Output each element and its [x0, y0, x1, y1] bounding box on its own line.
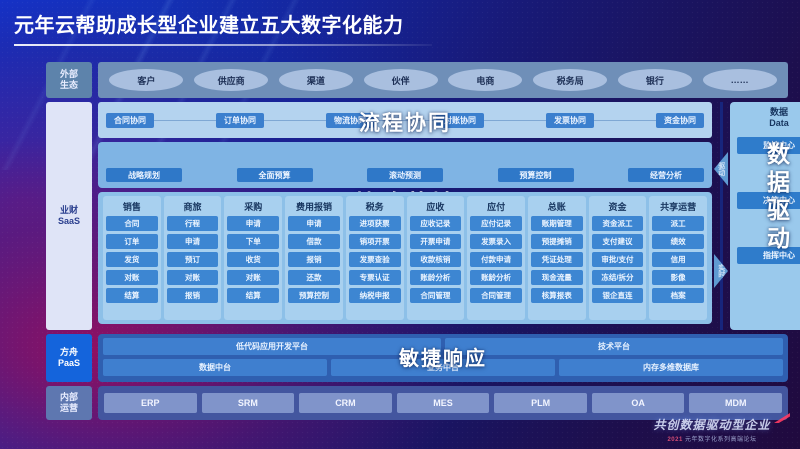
transaction-column-expense: 费用报销 申请 借款 报销 还款 预算控制	[285, 196, 343, 320]
ecosystem-pill[interactable]: 客户	[109, 69, 183, 91]
ecosystem-pill[interactable]: 税务局	[533, 69, 607, 91]
transaction-cell[interactable]: 影像	[652, 270, 704, 285]
strategy-item[interactable]: 战略规划	[106, 168, 182, 182]
transaction-column-shared-services: 共享运营 派工 绩效 信用 影像 档案	[649, 196, 707, 320]
transaction-cell[interactable]: 预算控制	[288, 288, 340, 303]
data-cell-command[interactable]: 指挥中心	[737, 247, 800, 264]
sidebar-item-internal[interactable]: 内部 运营	[46, 386, 92, 420]
process-connector	[374, 120, 436, 121]
process-connector	[594, 120, 656, 121]
internal-cell-mdm[interactable]: MDM	[689, 393, 782, 413]
process-connector	[264, 120, 326, 121]
title-underline	[14, 44, 432, 46]
paas-cell-business-midend[interactable]: 业务中台	[331, 359, 555, 376]
sidebar-item-paas[interactable]: 方舟 PaaS	[46, 334, 92, 382]
internal-cell-plm[interactable]: PLM	[494, 393, 587, 413]
ecosystem-pill[interactable]: 电商	[448, 69, 522, 91]
ecosystem-panel: 客户 供应商 渠道 伙伴 电商 税务局 银行 ……	[98, 62, 788, 98]
process-item[interactable]: 订单协同	[216, 113, 264, 128]
internal-ops-panel: ERP SRM CRM MES PLM OA MDM	[98, 386, 788, 420]
watermark-sub-text: 元年数字化系列高端论坛	[685, 437, 757, 443]
process-collaboration-panel: 合同协同 订单协同 物流协同 对账协同 发票协同 资金协同 流程协同	[98, 102, 712, 138]
transaction-cell[interactable]: 预订	[167, 252, 219, 267]
transaction-cell[interactable]: 进项获票	[349, 216, 401, 231]
transaction-cell[interactable]: 派工	[652, 216, 704, 231]
internal-cell-erp[interactable]: ERP	[104, 393, 197, 413]
column-header: 资金	[608, 199, 626, 213]
column-header: 采购	[244, 199, 262, 213]
internal-ops-row: 内部 运营 ERP SRM CRM MES PLM OA MDM	[46, 386, 788, 420]
transaction-cell[interactable]: 开票申请	[410, 234, 462, 249]
paas-cell-inmemory-db[interactable]: 内存多维数据库	[559, 359, 783, 376]
transaction-column-sales: 销售 合同 订单 发货 对账 结算	[103, 196, 161, 320]
column-header: 总账	[548, 199, 566, 213]
transaction-cell[interactable]: 申请	[227, 216, 279, 231]
transaction-cell[interactable]: 合同管理	[410, 288, 462, 303]
paas-cell-tech[interactable]: 技术平台	[445, 338, 783, 355]
transaction-cell[interactable]: 档案	[652, 288, 704, 303]
column-header: 商旅	[184, 199, 202, 213]
sidebar-item-saas[interactable]: 业财 SaaS	[46, 102, 92, 330]
process-connector	[154, 120, 216, 121]
transaction-cell[interactable]: 对账	[227, 270, 279, 285]
process-connector	[484, 120, 546, 121]
process-item[interactable]: 发票协同	[546, 113, 594, 128]
watermark-year: 2021	[667, 437, 682, 443]
ecosystem-row: 外部 生态 客户 供应商 渠道 伙伴 电商 税务局 银行 ……	[46, 62, 788, 98]
transaction-cell[interactable]: 付款申请	[470, 252, 522, 267]
arrow-spine	[720, 102, 723, 330]
sidebar-item-ecosystem[interactable]: 外部 生态	[46, 62, 92, 98]
transaction-cell[interactable]: 银企直连	[592, 288, 644, 303]
internal-cell-oa[interactable]: OA	[592, 393, 685, 413]
column-header: 共享运营	[660, 199, 696, 213]
strategy-item[interactable]: 预算控制	[498, 168, 574, 182]
transaction-cell[interactable]: 发票查验	[349, 252, 401, 267]
paas-row: 方舟 PaaS 低代码应用开发平台 技术平台 数据中台 业务中台 内存多维数据库…	[46, 334, 788, 382]
transaction-cell[interactable]: 还款	[288, 270, 340, 285]
transaction-cell[interactable]: 下单	[227, 234, 279, 249]
data-panel-header-en: Data	[769, 118, 789, 129]
transaction-cell[interactable]: 结算	[106, 288, 158, 303]
data-panel: 数据 Data 监控中心 决策中心 指挥中心 数据驱动	[730, 102, 800, 330]
transaction-cell[interactable]: 对账	[167, 270, 219, 285]
sidebar-item-ecosystem-line2: 生态	[60, 80, 78, 91]
transaction-column-receivable: 应收 应收记录 开票申请 收款核销 账龄分析 合同管理	[407, 196, 465, 320]
sidebar-item-ecosystem-line1: 外部	[60, 69, 78, 80]
transaction-cell[interactable]: 预提摊销	[531, 234, 583, 249]
title-block: 元年云帮助成长型企业建立五大数字化能力	[14, 14, 474, 46]
paas-row-1: 低代码应用开发平台 技术平台	[103, 338, 783, 355]
data-panel-header: 数据 Data	[769, 107, 789, 129]
arrow-drive-label: 驱动	[717, 162, 725, 176]
flow-arrows: 驱动 实时	[714, 102, 728, 330]
strategy-item[interactable]: 全面预算	[237, 168, 313, 182]
process-item[interactable]: 对账协同	[436, 113, 484, 128]
transaction-cell[interactable]: 核算报表	[531, 288, 583, 303]
transaction-cell[interactable]: 报销	[288, 252, 340, 267]
paas-panel: 低代码应用开发平台 技术平台 数据中台 业务中台 内存多维数据库 敏捷响应	[98, 334, 788, 382]
column-header: 费用报销	[296, 199, 332, 213]
ecosystem-pill[interactable]: 渠道	[279, 69, 353, 91]
transaction-cell[interactable]: 绩效	[652, 234, 704, 249]
transaction-cell[interactable]: 冻结/拆分	[592, 270, 644, 285]
sidebar-item-paas-line2: PaaS	[58, 358, 80, 369]
column-header: 应付	[487, 199, 505, 213]
transaction-cell[interactable]: 销项开票	[349, 234, 401, 249]
transaction-cell[interactable]: 专票认证	[349, 270, 401, 285]
paas-cell-data-midend[interactable]: 数据中台	[103, 359, 327, 376]
saas-row: 业财 SaaS 合同协同 订单协同 物流协同 对账协同 发票协同 资金协同	[46, 102, 788, 330]
transaction-grid: 销售 合同 订单 发货 对账 结算 商旅 行程 申请 预订 对账 报销	[98, 192, 712, 324]
transaction-cell[interactable]: 收款核销	[410, 252, 462, 267]
transaction-cell[interactable]: 发票录入	[470, 234, 522, 249]
transaction-cell[interactable]: 合同	[106, 216, 158, 231]
transaction-column-treasury: 资金 资金派工 支付建议 审批/支付 冻结/拆分 银企直连	[589, 196, 647, 320]
transaction-cell[interactable]: 对账	[106, 270, 158, 285]
process-item[interactable]: 物流协同	[326, 113, 374, 128]
transaction-cell[interactable]: 收货	[227, 252, 279, 267]
column-header: 销售	[123, 199, 141, 213]
ecosystem-pill[interactable]: 伙伴	[364, 69, 438, 91]
strategy-items: 战略规划 全面预算 滚动预测 预算控制 经营分析	[106, 168, 704, 182]
transaction-cell[interactable]: 申请	[167, 234, 219, 249]
transaction-column-ledger: 总账 账期管理 预提摊销 凭证处理 现金流量 核算报表	[528, 196, 586, 320]
internal-cell-srm[interactable]: SRM	[202, 393, 295, 413]
data-cell-decision[interactable]: 决策中心	[737, 192, 800, 209]
transaction-cell[interactable]: 账龄分析	[410, 270, 462, 285]
column-header: 税务	[366, 199, 384, 213]
data-cell-monitoring[interactable]: 监控中心	[737, 137, 800, 154]
strategy-panel: 战略规划 全面预算 滚动预测 预算控制 经营分析 战略落地	[98, 142, 712, 188]
transaction-cell[interactable]: 资金派工	[592, 216, 644, 231]
transaction-cell[interactable]: 审批/支付	[592, 252, 644, 267]
transaction-cell[interactable]: 合同管理	[470, 288, 522, 303]
transaction-cell[interactable]: 信用	[652, 252, 704, 267]
transaction-cell[interactable]: 应收记录	[410, 216, 462, 231]
arrow-realtime-label: 实时	[717, 264, 725, 278]
transaction-cell[interactable]: 纳税申报	[349, 288, 401, 303]
transaction-cell[interactable]: 账龄分析	[470, 270, 522, 285]
sidebar-item-paas-line1: 方舟	[60, 347, 78, 358]
transaction-cell[interactable]: 订单	[106, 234, 158, 249]
sidebar-item-internal-line2: 运营	[60, 403, 78, 414]
saas-body: 合同协同 订单协同 物流协同 对账协同 发票协同 资金协同 流程协同	[98, 102, 712, 330]
ecosystem-pill[interactable]: 供应商	[194, 69, 268, 91]
watermark-sub: 2021 元年数字化系列高端论坛	[632, 434, 792, 443]
transaction-column-procurement: 采购 申请 下单 收货 对账 结算	[224, 196, 282, 320]
process-item[interactable]: 合同协同	[106, 113, 154, 128]
page-title: 元年云帮助成长型企业建立五大数字化能力	[14, 14, 474, 38]
transaction-cell[interactable]: 应付记录	[470, 216, 522, 231]
transaction-column-travel: 商旅 行程 申请 预订 对账 报销	[164, 196, 222, 320]
transaction-cell[interactable]: 结算	[227, 288, 279, 303]
architecture-diagram: 外部 生态 客户 供应商 渠道 伙伴 电商 税务局 银行 …… 业财 SaaS	[46, 62, 788, 420]
column-header: 应收	[426, 199, 444, 213]
internal-cell-crm[interactable]: CRM	[299, 393, 392, 413]
slide-canvas: 元年云帮助成长型企业建立五大数字化能力 外部 生态 客户 供应商 渠道 伙伴 电…	[0, 0, 800, 449]
transaction-cell[interactable]: 支付建议	[592, 234, 644, 249]
transaction-cell[interactable]: 凭证处理	[531, 252, 583, 267]
internal-cell-mes[interactable]: MES	[397, 393, 490, 413]
transaction-cell[interactable]: 申请	[288, 216, 340, 231]
process-item[interactable]: 资金协同	[656, 113, 704, 128]
transaction-cell[interactable]: 账期管理	[531, 216, 583, 231]
paas-row-2: 数据中台 业务中台 内存多维数据库	[103, 359, 783, 376]
transaction-cell[interactable]: 行程	[167, 216, 219, 231]
watermark: 共创数据驱动型企业 2021 元年数字化系列高端论坛	[632, 416, 792, 443]
ecosystem-pill[interactable]: ……	[703, 69, 777, 91]
sidebar-item-internal-line1: 内部	[60, 392, 78, 403]
transaction-cell[interactable]: 发货	[106, 252, 158, 267]
transaction-cell[interactable]: 借款	[288, 234, 340, 249]
transaction-cell[interactable]: 现金流量	[531, 270, 583, 285]
data-panel-header-cn: 数据	[769, 107, 789, 118]
sidebar-item-saas-line1: 业财	[60, 205, 78, 216]
sidebar-item-saas-line2: SaaS	[58, 216, 80, 227]
strategy-item[interactable]: 滚动预测	[367, 168, 443, 182]
transaction-column-payable: 应付 应付记录 发票录入 付款申请 账龄分析 合同管理	[467, 196, 525, 320]
transaction-cell[interactable]: 报销	[167, 288, 219, 303]
strategy-item[interactable]: 经营分析	[628, 168, 704, 182]
transaction-column-tax: 税务 进项获票 销项开票 发票查验 专票认证 纳税申报	[346, 196, 404, 320]
paas-cell-lowcode[interactable]: 低代码应用开发平台	[103, 338, 441, 355]
ecosystem-pill[interactable]: 银行	[618, 69, 692, 91]
